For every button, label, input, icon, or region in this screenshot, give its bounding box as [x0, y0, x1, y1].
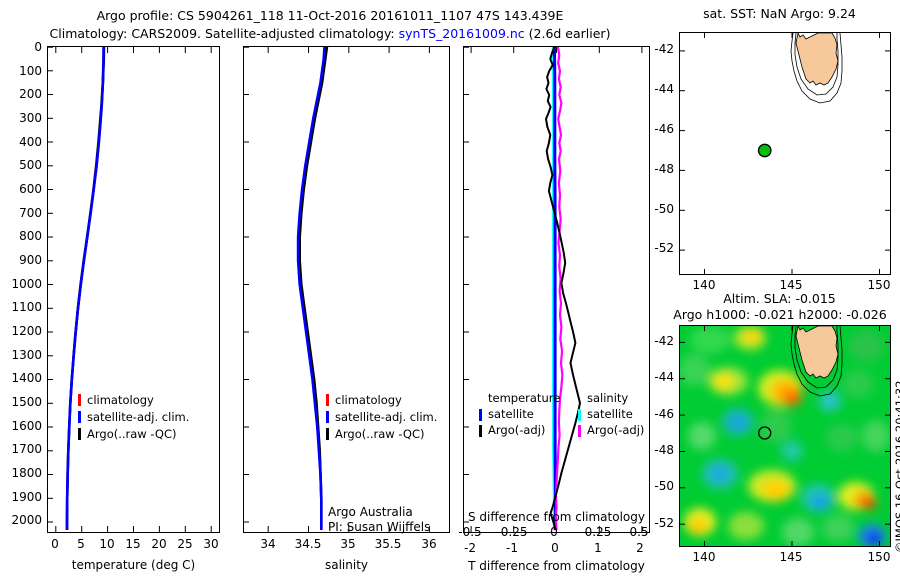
legend-swatch-satellite-adj: [78, 411, 81, 423]
sst-xtick-150: 150: [864, 278, 894, 292]
sla-ytick-n42: -42: [640, 334, 674, 348]
salinity-plot-area: [244, 47, 449, 532]
legend-swatch-sal-argo-adj: [578, 425, 581, 437]
imos-credit: ©IMOS 16-Oct-2016 20:41:32: [893, 553, 900, 567]
sla-ytick-n52: -52: [640, 516, 674, 530]
salinity-xtick-34: 34: [255, 537, 281, 551]
sla-xtick-140: 140: [689, 550, 719, 564]
temp-ytick-200: 200: [4, 87, 42, 101]
sst-xtick-145: 145: [776, 278, 806, 292]
temp-ytick-100: 100: [4, 64, 42, 78]
legend-label-argo-raw: Argo(..raw -QC): [87, 427, 177, 441]
legend-swatch-salinity-argo-raw: [326, 428, 329, 440]
diff-top-xtick-0p25: 0.25: [578, 525, 618, 539]
sla-map-title-line2: Argo h1000: -0.021 h2000: -0.026: [660, 307, 900, 322]
temp-xtick-0: 0: [44, 537, 66, 551]
temp-ytick-2000: 2000: [0, 513, 42, 527]
difference-panel[interactable]: [463, 46, 650, 533]
legend-swatch-salinity-climatology: [326, 394, 329, 406]
temp-ytick-1300: 1300: [0, 348, 42, 362]
legend-label-salinity-climatology: climatology: [335, 393, 402, 407]
difference-legend-salinity: salinity satellite Argo(-adj): [578, 391, 628, 439]
temp-ytick-1600: 1600: [0, 419, 42, 433]
temp-ytick-1400: 1400: [0, 371, 42, 385]
sst-xtick-140: 140: [689, 278, 719, 292]
climatology-suffix: (2.6d earlier): [525, 26, 611, 41]
sla-map-title-line1: Altim. SLA: -0.015: [672, 291, 887, 306]
sst-ytick-n52: -52: [640, 241, 674, 255]
diff-bottom-xtick-n2: -2: [458, 541, 482, 555]
tasmania-landmass: [796, 33, 838, 85]
temp-xtick-10: 10: [96, 537, 118, 551]
temp-ytick-700: 700: [4, 206, 42, 220]
sla-map-canvas: [680, 326, 890, 546]
temp-ytick-0: 0: [8, 40, 42, 54]
legend-swatch-salinity-satellite-adj: [326, 411, 329, 423]
legend-label-satellite-adj: satellite-adj. clim.: [87, 410, 189, 424]
diff-bottom-xtick-n1: -1: [500, 541, 524, 555]
legend-label-climatology: climatology: [87, 393, 154, 407]
synts-file-label: synTS_20161009.nc: [399, 26, 525, 41]
temperature-difference-label: T difference from climatology: [463, 559, 650, 573]
sst-ytick-n50: -50: [640, 202, 674, 216]
sst-ytick-n42: -42: [640, 42, 674, 56]
temp-ytick-600: 600: [4, 182, 42, 196]
temperature-panel[interactable]: [47, 46, 220, 533]
title-prefix: Argo profile:: [97, 8, 178, 23]
salinity-xtick-36: 36: [416, 537, 442, 551]
legend-swatch-argo-raw: [78, 428, 81, 440]
salinity-xlabel: salinity: [243, 558, 450, 572]
temp-xtick-30: 30: [200, 537, 222, 551]
temp-ytick-400: 400: [4, 135, 42, 149]
argo-australia-label: Argo Australia: [328, 505, 413, 519]
legend-swatch-temp-argo-adj: [479, 425, 482, 437]
legend-label-temp-argo-adj: Argo(-adj): [488, 423, 545, 437]
diff-top-xtick-0: 0: [543, 525, 565, 539]
sla-ytick-n46: -46: [640, 407, 674, 421]
legend-label-sal-argo-adj: Argo(-adj): [587, 423, 644, 437]
sla-ytick-n48: -48: [640, 443, 674, 457]
sst-ytick-n48: -48: [640, 162, 674, 176]
legend-swatch-climatology: [78, 394, 81, 406]
legend-heading-temperature: temperature: [488, 391, 560, 407]
diff-top-xtick-n0p5: -0.5: [452, 525, 488, 539]
title-profile-id: CS 5904261_118 11-Oct-2016 20161011_1107…: [177, 8, 563, 23]
temp-ytick-1200: 1200: [0, 324, 42, 338]
temp-ytick-800: 800: [4, 229, 42, 243]
temp-ytick-1700: 1700: [0, 442, 42, 456]
temp-xtick-20: 20: [148, 537, 170, 551]
diff-bottom-xtick-2: 2: [628, 541, 652, 555]
diff-bottom-xtick-0: 0: [543, 541, 567, 555]
legend-heading-salinity: salinity: [587, 391, 628, 407]
difference-plot-area: [464, 47, 649, 532]
temp-ytick-1500: 1500: [0, 395, 42, 409]
page-title-line1: Argo profile: CS 5904261_118 11-Oct-2016…: [0, 8, 660, 23]
legend-swatch-temp-satellite: [479, 409, 482, 421]
sla-xtick-150: 150: [864, 550, 894, 564]
difference-legend-temperature: temperature satellite Argo(-adj): [479, 391, 560, 439]
temp-xtick-15: 15: [122, 537, 144, 551]
salinity-difference-label: S difference from climatology: [463, 510, 650, 524]
sst-ytick-n46: -46: [640, 122, 674, 136]
salinity-xtick-34p5: 34.5: [290, 537, 326, 551]
temp-ytick-1900: 1900: [0, 490, 42, 504]
temperature-plot-area: [48, 47, 219, 532]
climatology-prefix: Climatology: CARS2009. Satellite-adjuste…: [50, 26, 399, 41]
diff-top-xtick-n0p25: -0.25: [490, 525, 534, 539]
sla-ytick-n44: -44: [640, 370, 674, 384]
sla-ytick-n50: -50: [640, 479, 674, 493]
salinity-xtick-35p5: 35.5: [370, 537, 406, 551]
argo-position-marker-dot: [759, 144, 771, 156]
sst-map-canvas: [680, 33, 890, 274]
temp-ytick-1100: 1100: [0, 300, 42, 314]
temp-ytick-1800: 1800: [0, 466, 42, 480]
legend-label-salinity-argo-raw: Argo(..raw -QC): [335, 427, 425, 441]
sst-ytick-n44: -44: [640, 82, 674, 96]
temp-ytick-900: 900: [4, 253, 42, 267]
salinity-xtick-35: 35: [335, 537, 361, 551]
legend-swatch-sal-satellite: [578, 409, 581, 421]
sst-map-title: sat. SST: NaN Argo: 9.24: [672, 6, 887, 21]
legend-label-salinity-satellite-adj: satellite-adj. clim.: [335, 410, 437, 424]
imos-credit-text: ©IMOS 16-Oct-2016 20:41:32: [893, 380, 900, 553]
argo-pi-label: PI: Susan Wijffels: [328, 520, 430, 534]
temp-ytick-500: 500: [4, 158, 42, 172]
sla-map[interactable]: [679, 325, 891, 547]
page-title-line2: Climatology: CARS2009. Satellite-adjuste…: [0, 26, 660, 41]
legend-label-temp-satellite: satellite: [488, 407, 534, 421]
temp-ytick-300: 300: [4, 111, 42, 125]
diff-bottom-xtick-1: 1: [586, 541, 610, 555]
temperature-xlabel: temperature (deg C): [47, 558, 220, 572]
sst-map[interactable]: [679, 32, 891, 275]
temp-xtick-25: 25: [174, 537, 196, 551]
temp-xtick-5: 5: [70, 537, 92, 551]
sla-xtick-145: 145: [776, 550, 806, 564]
temp-ytick-1000: 1000: [0, 277, 42, 291]
salinity-panel[interactable]: [243, 46, 450, 533]
legend-label-sal-satellite: satellite: [587, 407, 633, 421]
